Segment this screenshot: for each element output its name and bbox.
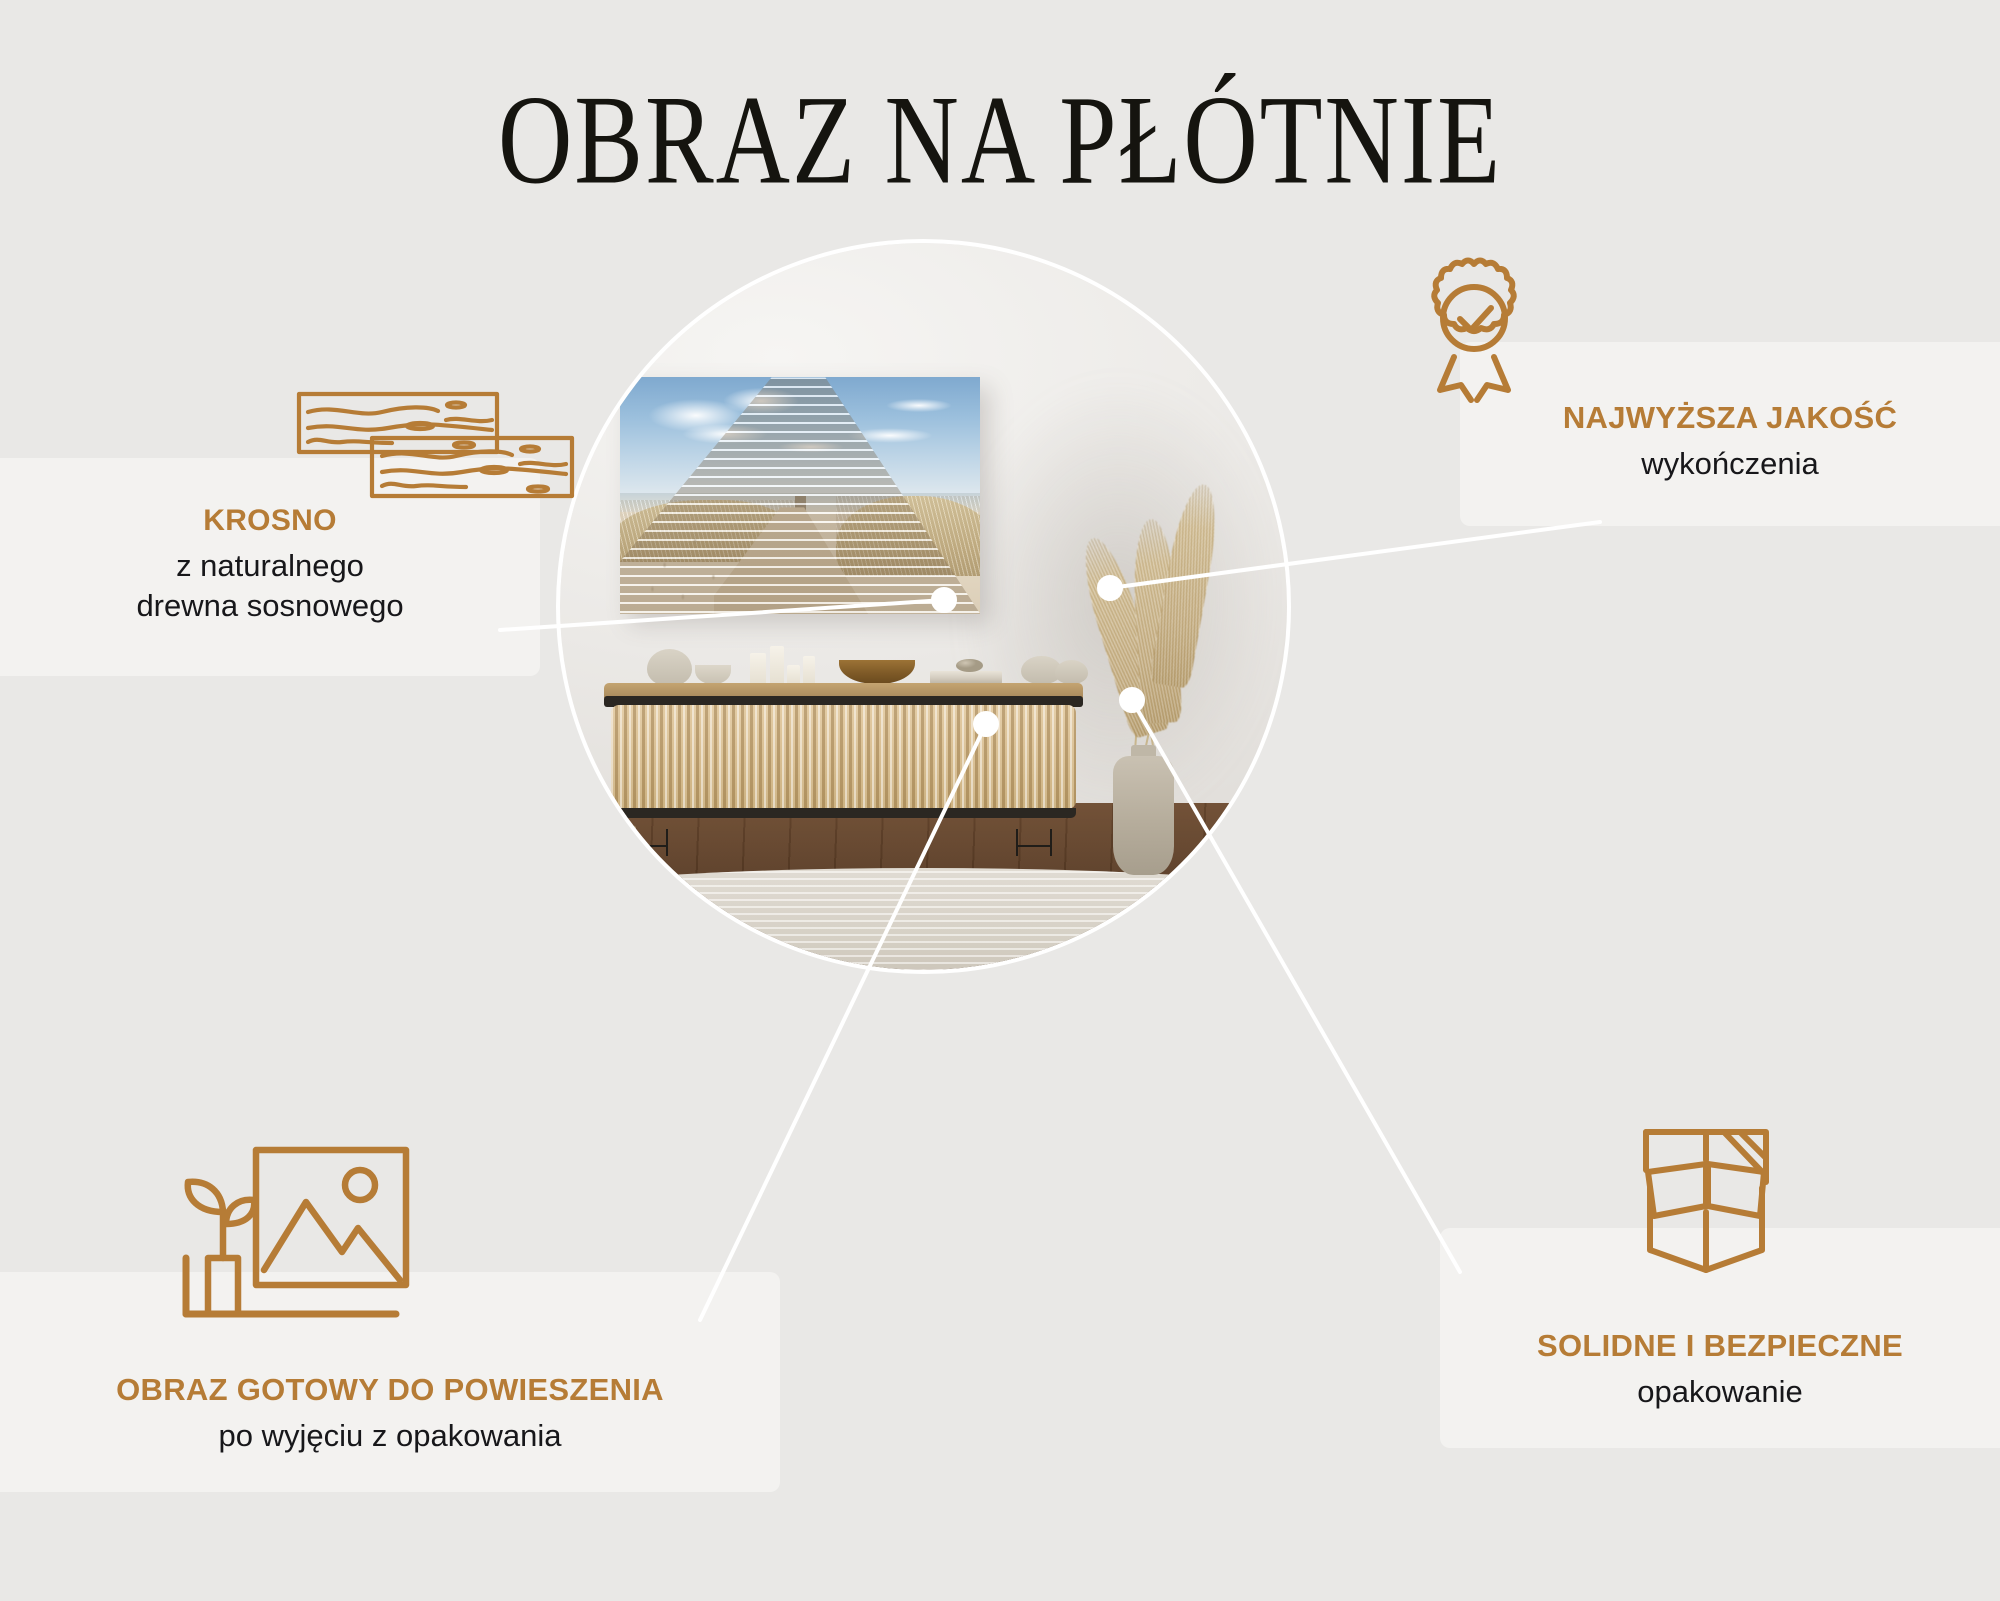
- sideboard-leg-brace: [632, 845, 666, 847]
- quality-badge-icon: [1410, 254, 1538, 404]
- feature-subtitle-hanging: po wyjęciu z opakowania: [0, 1416, 780, 1456]
- feature-subtitle-packing: opakowanie: [1440, 1372, 2000, 1412]
- page-title: OBRAZ NA PŁÓTNIE: [10, 74, 1990, 207]
- feature-subtitle-krosno-line1: z naturalnego: [0, 546, 540, 586]
- fluted-wood-texture: [611, 705, 1076, 809]
- pampas-vase: [1113, 756, 1174, 876]
- room-scene-circle: [560, 243, 1287, 970]
- room-scene-clip: [560, 243, 1287, 970]
- ceramic-vase-right-back: [1055, 660, 1089, 684]
- sideboard-leg-brace: [1016, 845, 1050, 847]
- sideboard-leg: [666, 829, 668, 856]
- sideboard-leg: [1016, 829, 1018, 856]
- feature-title-quality: NAJWYŻSZA JAKOŚĆ: [1460, 400, 2000, 436]
- artwork-footprints: [628, 529, 750, 609]
- candle: [750, 653, 766, 684]
- candle: [770, 646, 784, 685]
- canvas-artwork: [620, 377, 980, 613]
- candle: [787, 665, 800, 684]
- feature-title-hanging: OBRAZ GOTOWY DO POWIESZENIA: [0, 1372, 780, 1408]
- sideboard-furniture: [604, 683, 1084, 832]
- sideboard-base-trim: [611, 808, 1076, 818]
- area-rug: [560, 868, 1287, 970]
- rug-texture: [560, 868, 1287, 970]
- wooden-planks-icon: [296, 390, 576, 500]
- candle: [803, 656, 815, 684]
- sideboard-leg: [1050, 829, 1052, 856]
- woven-basket: [578, 825, 636, 898]
- feature-card-quality: NAJWYŻSZA JAKOŚĆ wykończenia: [1460, 342, 2000, 526]
- ceramic-vase-large: [647, 649, 693, 686]
- interior-scene: [560, 243, 1287, 970]
- feature-title-krosno: KROSNO: [0, 504, 540, 538]
- framed-picture-plant-icon: [160, 1140, 422, 1320]
- feature-title-packing: SOLIDNE I BEZPIECZNE: [1440, 1328, 2000, 1364]
- basket-texture: [578, 825, 636, 898]
- feature-subtitle-krosno-line2: drewna sosnowego: [0, 586, 540, 626]
- cardboard-box-icon: [1628, 1120, 1784, 1280]
- feature-subtitle-quality: wykończenia: [1460, 444, 2000, 484]
- sideboard-body: [611, 705, 1076, 809]
- infographic-stage: OBRAZ NA PŁÓTNIE: [0, 0, 2000, 1601]
